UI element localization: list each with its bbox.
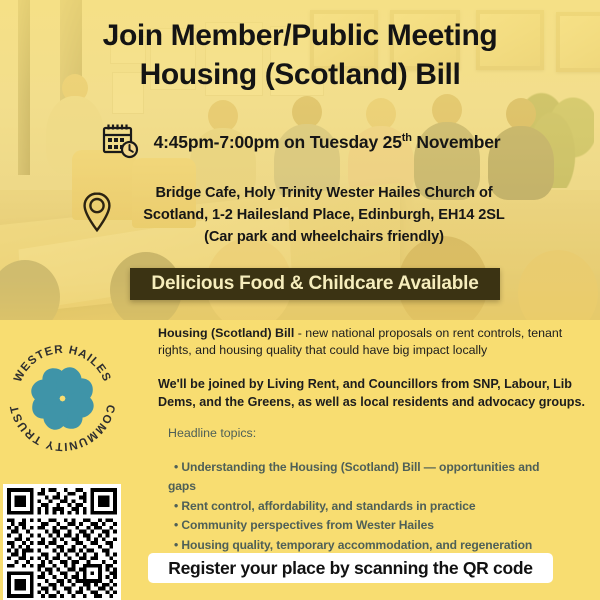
where-line-3: (Car park and wheelchairs friendly) — [204, 229, 444, 245]
where-row: Bridge Cafe, Holy Trinity Wester Hailes … — [0, 182, 600, 248]
when-row: 4:45pm-7:00pm on Tuesday 25th November — [0, 120, 600, 165]
when-month: November — [412, 132, 501, 152]
when-text: 4:45pm-7:00pm on Tuesday 25th November — [154, 132, 501, 153]
when-ordinal-suffix: th — [402, 132, 412, 144]
where-line-1: Bridge Cafe, Holy Trinity Wester Hailes … — [155, 185, 492, 201]
food-childcare-banner: Delicious Food & Childcare Available — [130, 268, 500, 300]
hero-content: Join Member/Public Meeting Housing (Scot… — [0, 0, 600, 600]
when-time-range: 4:45pm-7:00pm on Tuesday 25 — [154, 132, 402, 152]
title-line-1: Join Member/Public Meeting — [103, 19, 498, 52]
where-text: Bridge Cafe, Holy Trinity Wester Hailes … — [128, 182, 520, 248]
food-childcare-banner-text: Delicious Food & Childcare Available — [151, 273, 478, 295]
page-title: Join Member/Public Meeting Housing (Scot… — [0, 16, 600, 94]
map-pin-icon — [80, 190, 114, 239]
title-line-2: Housing (Scotland) Bill — [0, 55, 600, 94]
poster: Join Member/Public Meeting Housing (Scot… — [0, 0, 600, 600]
where-line-2: Scotland, 1-2 Hailesland Place, Edinburg… — [143, 207, 504, 223]
calendar-clock-icon — [100, 120, 140, 165]
